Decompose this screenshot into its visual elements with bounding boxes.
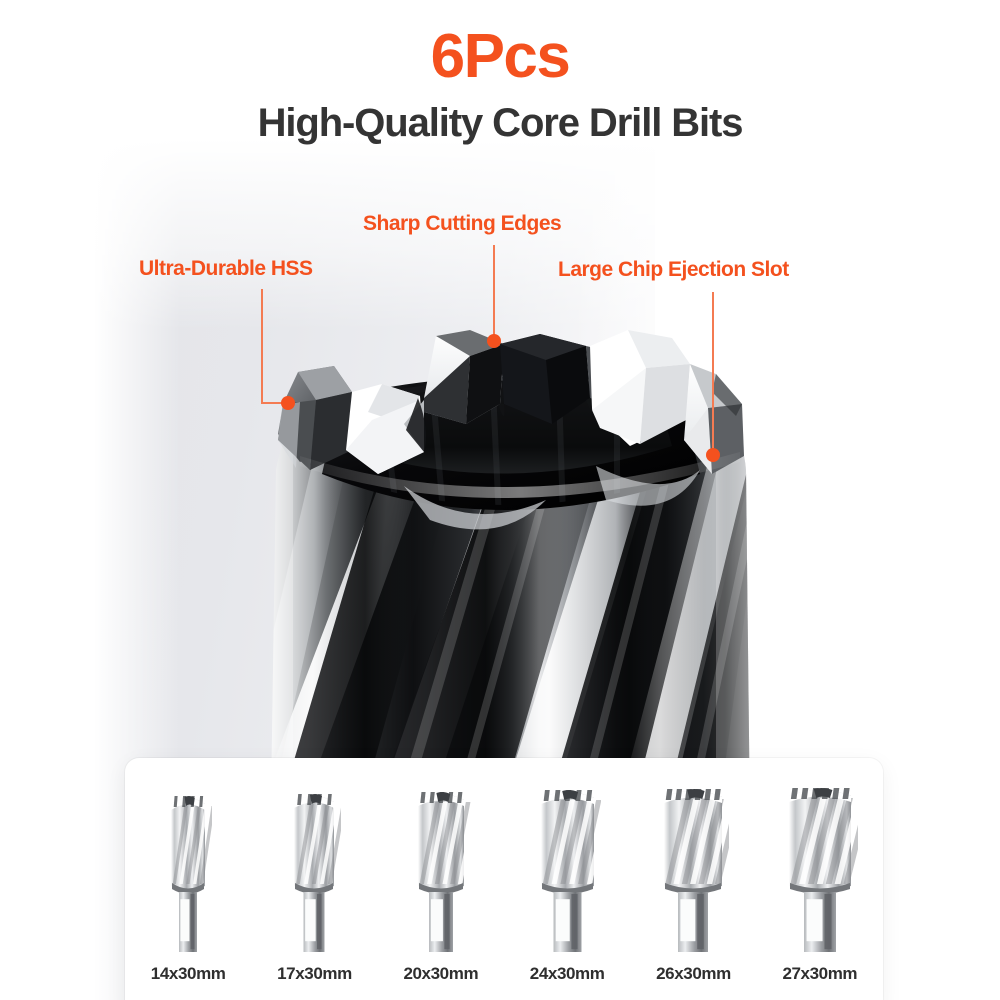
piece-count-heading: 6Pcs	[0, 26, 1000, 88]
callout-label-sharp-cutting-edges: Sharp Cutting Edges	[363, 212, 561, 236]
drill-bit-illustration	[164, 790, 212, 952]
size-cell[interactable]: 26x30mm	[634, 792, 752, 984]
page-title: High-Quality Core Drill Bits	[0, 102, 1000, 144]
size-label: 27x30mm	[782, 964, 857, 984]
callout-label-large-chip-ejection-slot: Large Chip Ejection Slot	[558, 258, 789, 282]
size-cell[interactable]: 27x30mm	[761, 792, 879, 984]
drill-bit-illustration	[287, 788, 341, 952]
drill-bit-image	[534, 792, 601, 952]
header-block: 6Pcs High-Quality Core Drill Bits	[0, 26, 1000, 144]
drill-bit-image	[411, 792, 471, 952]
drill-bit-image	[287, 792, 341, 952]
dot-marker-icon-large-chip-ejection-slot	[706, 448, 720, 462]
size-label: 20x30mm	[403, 964, 478, 984]
dot-marker-icon-sharp-cutting-edges	[487, 334, 501, 348]
size-cell[interactable]: 20x30mm	[382, 792, 500, 984]
drill-bit-illustration	[534, 784, 601, 952]
dot-marker-icon-ultra-durable-hss	[281, 396, 295, 410]
drill-bit-illustration	[411, 786, 471, 952]
callout-label-ultra-durable-hss: Ultra-Durable HSS	[139, 257, 313, 281]
size-label: 17x30mm	[277, 964, 352, 984]
size-lineup-card: 14x30mm17x30mm20x30mm24x30mm26x30mm27x30…	[125, 758, 883, 1000]
drill-bit-image	[782, 792, 858, 952]
size-label: 26x30mm	[656, 964, 731, 984]
size-cell[interactable]: 14x30mm	[129, 792, 247, 984]
size-cell[interactable]: 17x30mm	[255, 792, 373, 984]
drill-bit-illustration	[782, 782, 858, 952]
size-lineup-grid: 14x30mm17x30mm20x30mm24x30mm26x30mm27x30…	[125, 774, 883, 984]
drill-bit-image	[164, 792, 212, 952]
drill-bit-illustration	[657, 783, 729, 952]
size-label: 24x30mm	[530, 964, 605, 984]
drill-bit-image	[657, 792, 729, 952]
size-label: 14x30mm	[151, 964, 226, 984]
size-cell[interactable]: 24x30mm	[508, 792, 626, 984]
leader-line-ultra-durable-hss	[262, 290, 286, 403]
infographic-canvas: 6Pcs High-Quality Core Drill Bits Ultra-…	[0, 0, 1000, 1000]
